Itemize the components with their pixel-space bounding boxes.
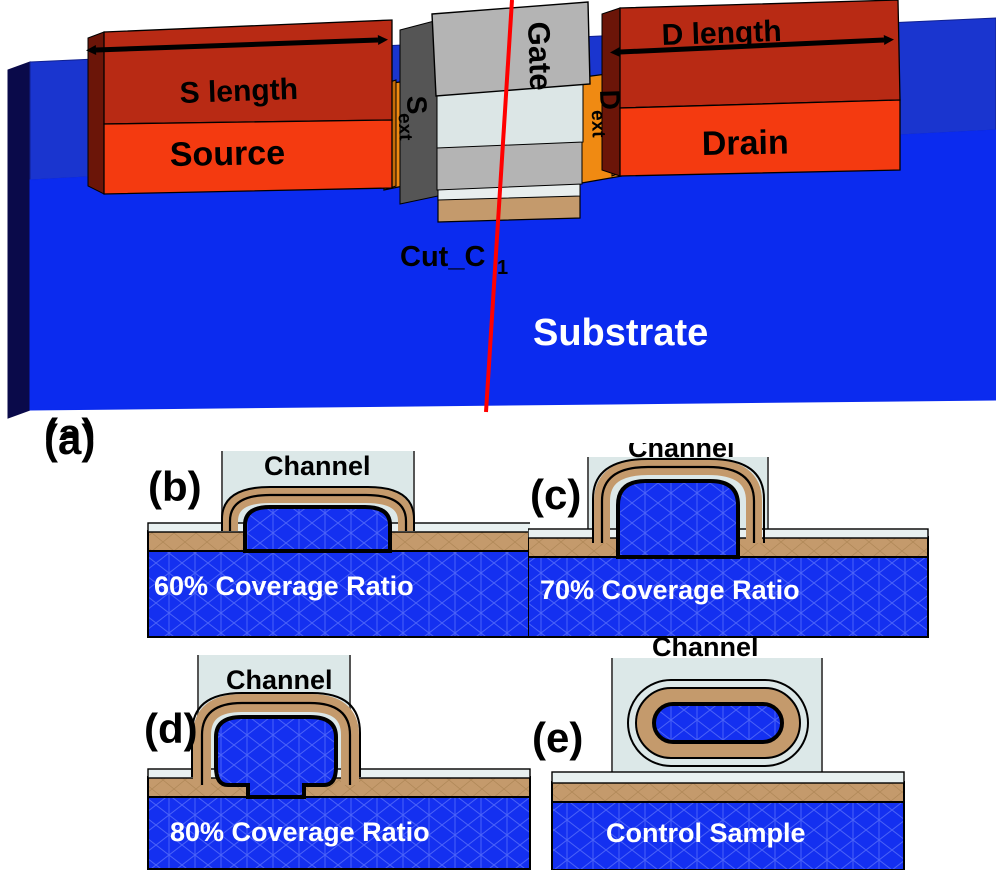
drain-label: Drain xyxy=(701,123,789,163)
source-label: Source xyxy=(169,134,285,174)
d-ext-main: D xyxy=(594,89,626,110)
panel-c-cross-section: Channel 70% Coverage Ratio (c) xyxy=(528,443,958,643)
panel-e-cross-section: Channel Control Sample (e) xyxy=(528,630,948,870)
s-ext-sub: ext xyxy=(394,113,416,142)
panel-c-channel-label: Channel xyxy=(628,443,735,463)
substrate-label: Substrate xyxy=(533,312,708,354)
figure-root: S length D length Source Drain Gate S ex… xyxy=(0,0,996,870)
panel-e-wire-core xyxy=(654,704,782,742)
panel-c-letter: (c) xyxy=(530,471,581,518)
panel-d-cross-section: Channel 80% Coverage Ratio (d) xyxy=(130,645,550,875)
panel-e-caption: Control Sample xyxy=(606,818,806,848)
panel-b-fin-core xyxy=(245,507,390,551)
panel-a-3d-device: S length D length Source Drain Gate S ex… xyxy=(0,0,996,440)
panel-e-planar-oxide xyxy=(552,782,904,802)
panel-b-channel-label: Channel xyxy=(264,451,371,481)
panel-d-caption: 80% Coverage Ratio xyxy=(170,817,430,847)
panel-b-caption: 60% Coverage Ratio xyxy=(154,571,414,601)
s-length-label: S length xyxy=(179,73,298,110)
panel-d-fin-core xyxy=(216,717,336,797)
s-ext-main: S xyxy=(401,95,433,115)
panel-e-planar-cap xyxy=(552,772,904,783)
source-top-face xyxy=(104,20,392,124)
panel-c-caption: 70% Coverage Ratio xyxy=(540,575,800,605)
panel-c-fin-core xyxy=(618,481,738,557)
gate-label: Gate xyxy=(521,21,558,91)
panel-b-letter: (b) xyxy=(148,463,202,510)
panel-d-channel-label: Channel xyxy=(226,665,333,695)
d-ext-sub: ext xyxy=(587,110,609,139)
panel-e-letter: (e) xyxy=(532,714,583,761)
substrate-left-face xyxy=(8,62,30,418)
cut-c1-main: Cut_C xyxy=(400,241,485,273)
panel-b-cross-section: Channel 60% Coverage Ratio (b) xyxy=(130,443,530,643)
panel-e-channel-label: Channel xyxy=(652,632,759,662)
cut-c1-sub: 1 xyxy=(497,257,508,279)
panel-a-letter-text: (a) xyxy=(44,416,95,463)
source-left-side xyxy=(88,32,104,194)
panel-d-letter: (d) xyxy=(144,705,198,752)
d-length-label: D length xyxy=(661,15,782,52)
